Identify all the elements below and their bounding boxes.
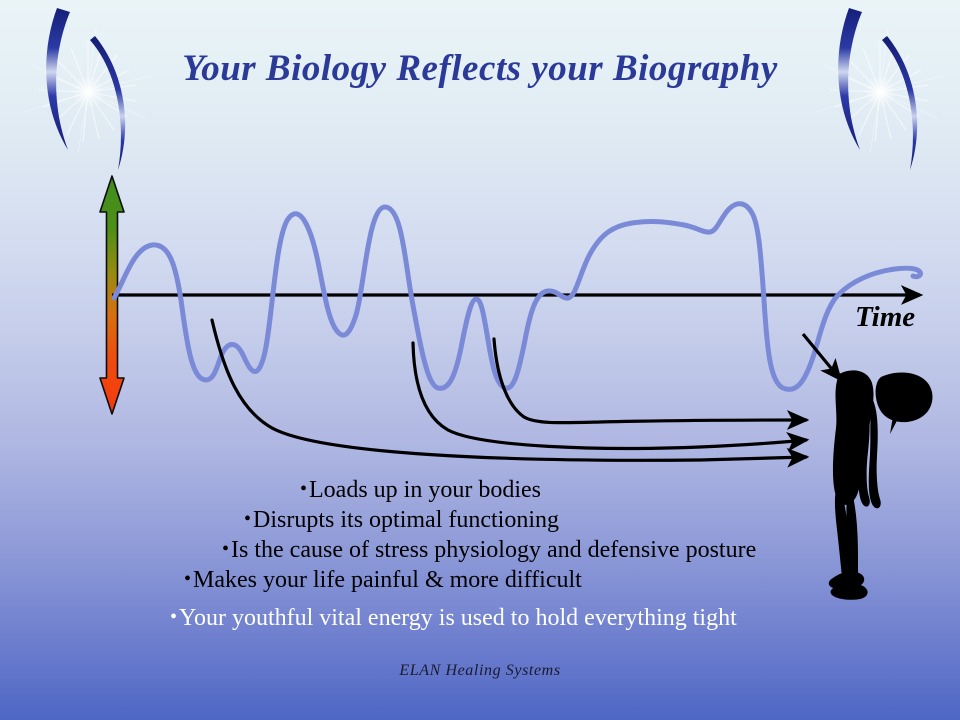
slide: Your Biology Reflects your Biography Tim… — [0, 0, 960, 720]
list-item-label: Loads up in your bodies — [309, 477, 541, 503]
bullet-marker-icon: • — [170, 606, 179, 628]
footer-branding: ELAN Healing Systems — [0, 662, 960, 680]
list-item: •Disrupts its optimal functioning — [244, 508, 559, 532]
list-item: •Is the cause of stress physiology and d… — [222, 538, 756, 562]
list-item: •Your youthful vital energy is used to h… — [170, 606, 737, 630]
list-item: •Makes your life painful & more difficul… — [184, 568, 582, 592]
list-item-label: Makes your life painful & more difficult — [193, 567, 582, 593]
bullet-marker-icon: • — [244, 508, 253, 530]
list-item: •Loads up in your bodies — [300, 478, 541, 502]
page-title: Your Biology Reflects your Biography — [0, 47, 960, 90]
bullet-marker-icon: • — [184, 568, 193, 590]
figure-head — [876, 372, 933, 422]
bullet-marker-icon: • — [300, 478, 309, 500]
list-item-label: Your youthful vital energy is used to ho… — [179, 605, 737, 631]
load-arrow-3 — [494, 339, 806, 423]
slumped-figure-silhouette — [829, 370, 933, 599]
list-item-label: Disrupts its optimal functioning — [253, 507, 559, 533]
load-arrow-2 — [413, 343, 806, 448]
list-item-label: Is the cause of stress physiology and de… — [231, 537, 756, 563]
bullet-marker-icon: • — [222, 538, 231, 560]
time-axis-label: Time — [855, 301, 915, 334]
